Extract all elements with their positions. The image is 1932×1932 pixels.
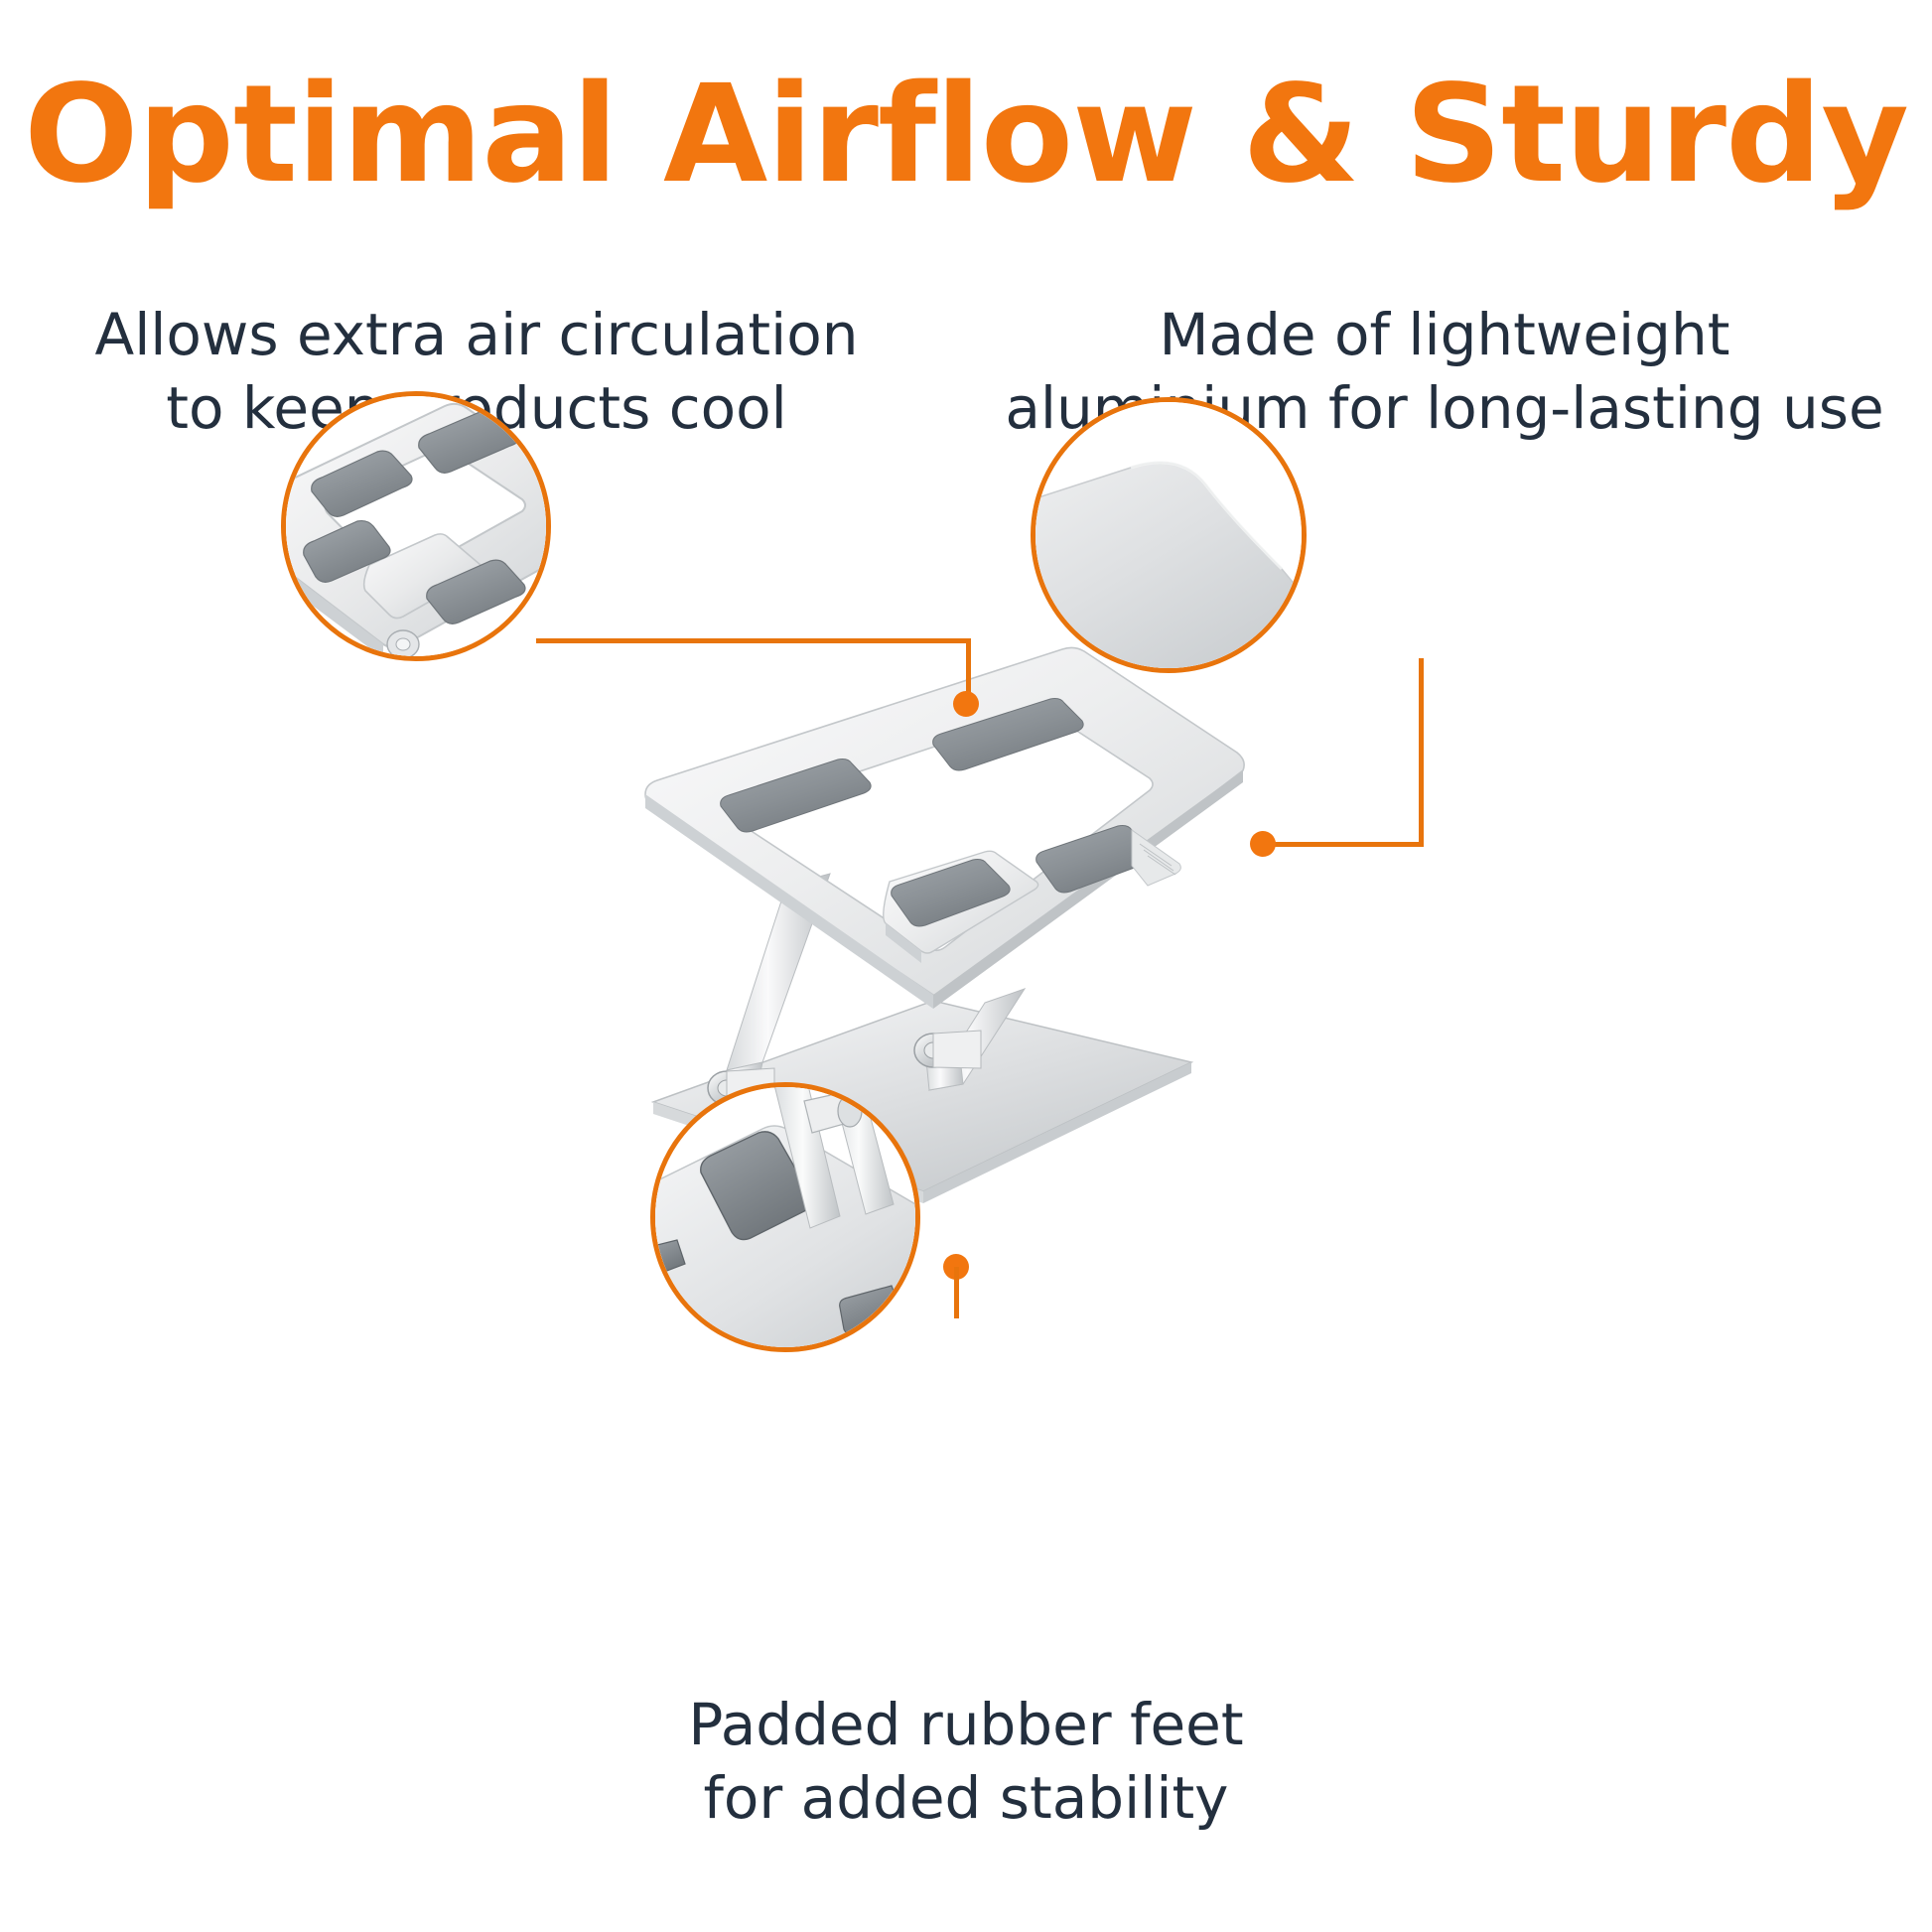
leader-line-airflow-horizontal: [536, 638, 971, 643]
leader-line-aluminium-horizontal: [1263, 842, 1422, 847]
stand-top-plate: [645, 647, 1244, 1009]
leader-line-rubber-feet-vertical: [954, 1267, 959, 1318]
callout-airflow-circle: [281, 391, 551, 661]
caption-rubber-feet-line1: Padded rubber feet: [549, 1688, 1383, 1761]
leader-line-aluminium-vertical: [1419, 658, 1424, 847]
page-title: Optimal Airflow & Sturdy: [0, 62, 1932, 210]
callout-aluminium-zoom-view: [1035, 402, 1302, 668]
callout-airflow-zoom-view: [286, 396, 546, 656]
callout-rubber-feet-zoom-view: [655, 1087, 915, 1347]
leader-dot-aluminium: [1250, 831, 1276, 857]
stand-pivot-joint-front: [914, 1031, 981, 1068]
leader-dot-airflow: [953, 691, 979, 717]
caption-aluminium-line1: Made of lightweight: [1003, 298, 1886, 371]
callout-aluminium-circle: [1031, 397, 1307, 673]
callout-rubber-feet-circle: [650, 1082, 920, 1352]
caption-rubber-feet-line2: for added stability: [549, 1761, 1383, 1835]
caption-rubber-feet: Padded rubber feet for added stability: [549, 1688, 1383, 1835]
infographic-canvas: Optimal Airflow & Sturdy Allows extra ai…: [0, 0, 1932, 1932]
caption-airflow-line1: Allows extra air circulation: [60, 298, 894, 371]
